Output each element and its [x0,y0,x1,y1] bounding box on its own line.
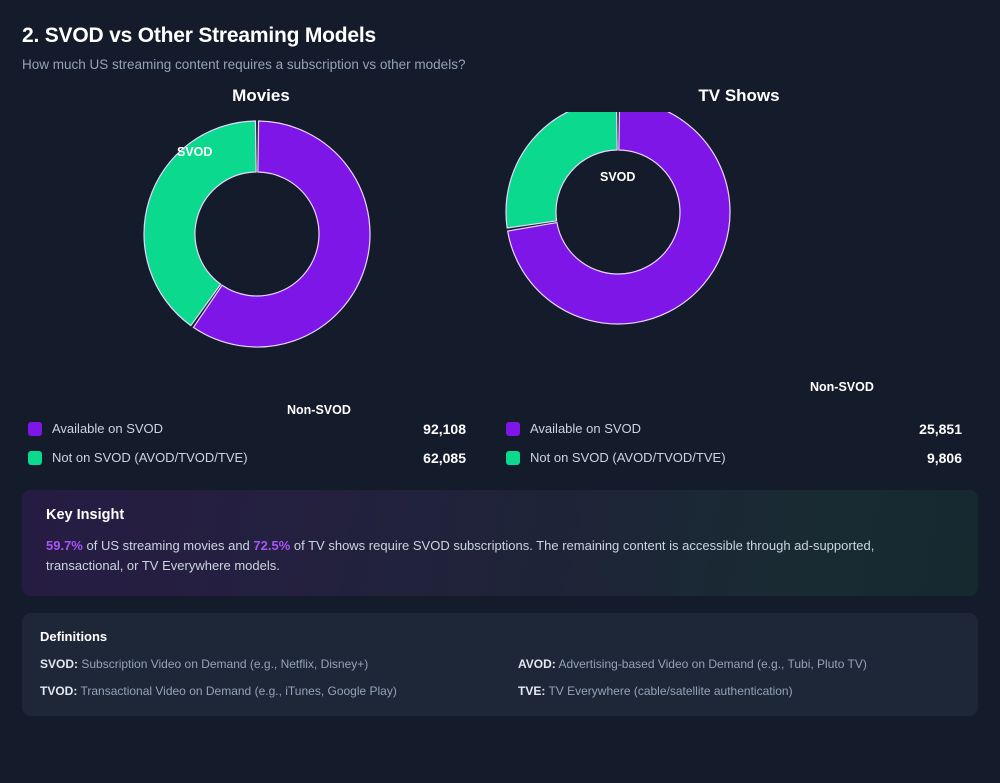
definitions-column-left: TVOD: Transactional Video on Demand (e.g… [40,684,500,698]
legend-value: 25,851 [919,421,972,437]
legend-tv-shows: Available on SVOD 25,851 Not on SVOD (AV… [500,414,978,472]
legend-movies: Available on SVOD 92,108 Not on SVOD (AV… [22,414,500,472]
chart-title-movies: Movies [22,86,500,106]
header: 2. SVOD vs Other Streaming Models How mu… [22,24,978,72]
legend-label: Not on SVOD (AVOD/TVOD/TVE) [52,450,423,465]
donut-wrap-movies: SVOD Non-SVOD [22,112,500,412]
legend-row[interactable]: Available on SVOD 25,851 [506,414,972,443]
definition-text: Advertising-based Video on Demand (e.g.,… [556,657,867,671]
legend-value: 9,806 [927,450,972,466]
definition-term: AVOD: [518,657,556,671]
definitions-title: Definitions [40,629,960,644]
definition-term: SVOD: [40,657,78,671]
legend-swatch-svod-icon [28,422,42,436]
donut-wrap-tv-shows: SVOD Non-SVOD [500,112,978,412]
charts-row: Movies SVOD Non-SVOD Available on SVOD 9… [22,86,978,472]
definition-text: Transactional Video on Demand (e.g., iTu… [77,684,397,698]
key-insight-title: Key Insight [46,507,954,523]
donut-slices-tv-shows [506,112,730,324]
legend-label: Available on SVOD [52,421,423,436]
chart-movies: Movies SVOD Non-SVOD Available on SVOD 9… [22,86,500,472]
definitions-column-right: AVOD: Advertising-based Video on Demand … [500,657,960,671]
insight-text-1: of US streaming movies and [83,538,254,553]
legend-label: Not on SVOD (AVOD/TVOD/TVE) [530,450,927,465]
slice-label-tv-non-svod: Non-SVOD [810,380,874,394]
definition-item: TVOD: Transactional Video on Demand (e.g… [40,684,500,698]
legend-value: 62,085 [423,450,494,466]
key-insight-text: 59.7% of US streaming movies and 72.5% o… [46,536,954,576]
legend-label: Available on SVOD [530,421,919,436]
legend-row[interactable]: Not on SVOD (AVOD/TVOD/TVE) 62,085 [28,443,494,472]
definitions-grid: SVOD: Subscription Video on Demand (e.g.… [40,657,960,698]
slice-label-movies-non-svod: Non-SVOD [287,403,351,417]
definition-text: Subscription Video on Demand (e.g., Netf… [78,657,368,671]
definition-item: TVE: TV Everywhere (cable/satellite auth… [500,684,960,698]
definitions-column-right: TVE: TV Everywhere (cable/satellite auth… [500,684,960,698]
legend-swatch-svod-icon [506,422,520,436]
donut-chart-movies [22,112,500,412]
donut-chart-tv-shows [500,112,978,412]
dashboard-page: 2. SVOD vs Other Streaming Models How mu… [0,0,1000,783]
definition-term: TVE: [518,684,545,698]
definitions-card: Definitions SVOD: Subscription Video on … [22,613,978,716]
insight-pct-movies: 59.7% [46,538,83,553]
legend-swatch-non-svod-icon [506,451,520,465]
page-subtitle: How much US streaming content requires a… [22,57,978,72]
legend-swatch-non-svod-icon [28,451,42,465]
chart-tv-shows: TV Shows SVOD Non-SVOD Available on SVOD… [500,86,978,472]
definition-text: TV Everywhere (cable/satellite authentic… [545,684,792,698]
definition-item: AVOD: Advertising-based Video on Demand … [500,657,960,671]
key-insight-card: Key Insight 59.7% of US streaming movies… [22,490,978,596]
page-title: 2. SVOD vs Other Streaming Models [22,24,978,48]
definition-term: TVOD: [40,684,77,698]
insight-pct-tv: 72.5% [253,538,290,553]
chart-title-tv-shows: TV Shows [500,86,978,106]
slice-label-tv-svod: SVOD [600,170,635,184]
legend-value: 92,108 [423,421,494,437]
legend-row[interactable]: Not on SVOD (AVOD/TVOD/TVE) 9,806 [506,443,972,472]
slice-label-movies-svod: SVOD [177,145,212,159]
legend-row[interactable]: Available on SVOD 92,108 [28,414,494,443]
definitions-column-left: SVOD: Subscription Video on Demand (e.g.… [40,657,500,671]
definition-item: SVOD: Subscription Video on Demand (e.g.… [40,657,500,671]
